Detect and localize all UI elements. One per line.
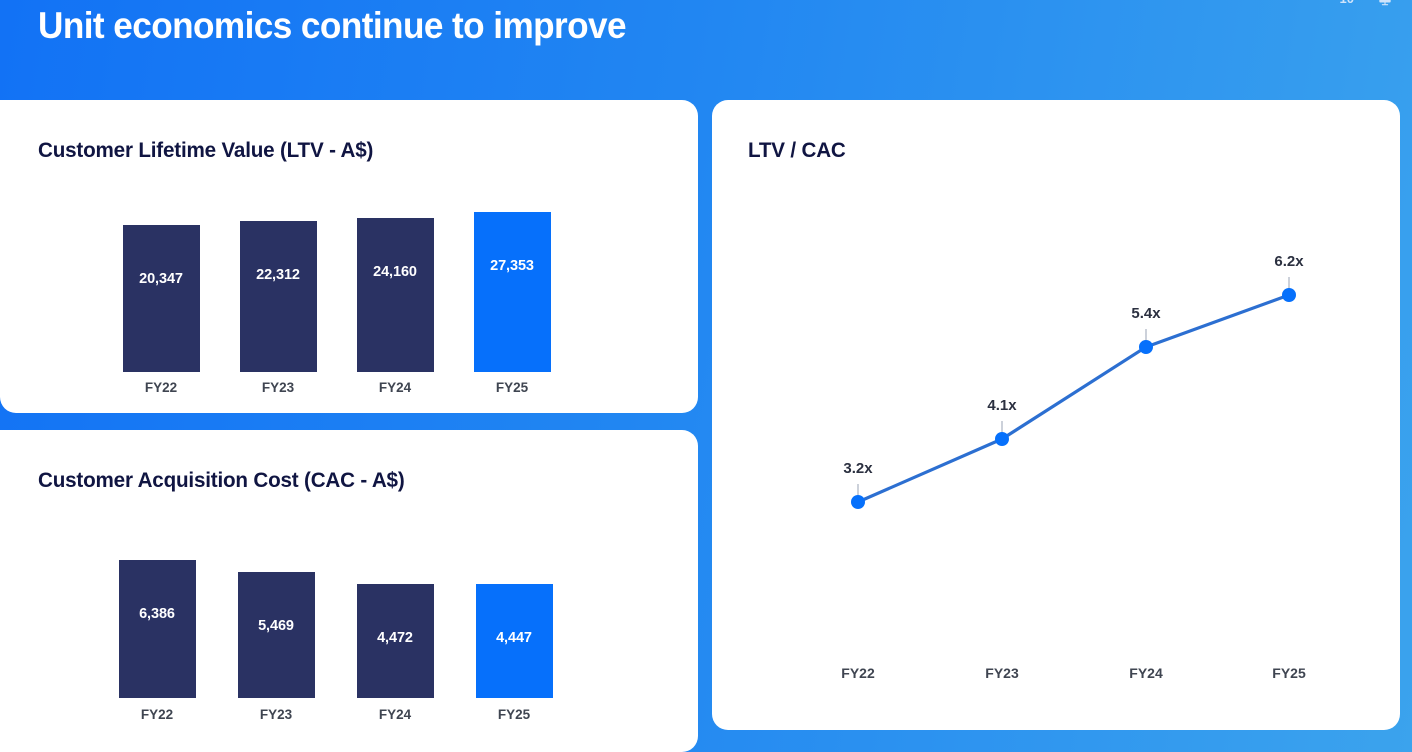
bar-chart-cac: 6,386FY225,469FY234,472FY244,447FY25 <box>0 430 698 752</box>
bar: 5,469 <box>238 572 315 699</box>
bar-value-label: 20,347 <box>123 271 200 287</box>
bar-value-label: 22,312 <box>240 267 317 283</box>
line-value-label: 5.4x <box>1131 305 1160 322</box>
presentation-icon[interactable] <box>1378 0 1392 6</box>
line-value-label: 4.1x <box>987 397 1016 414</box>
bar-category-label: FY22 <box>111 380 212 395</box>
line-category-label: FY24 <box>1129 665 1162 681</box>
line-value-label: 6.2x <box>1274 253 1303 270</box>
bar-category-label: FY23 <box>226 707 327 722</box>
bar-value-label: 24,160 <box>357 264 434 280</box>
bar-group: 27,353FY25 <box>474 212 551 372</box>
line-value-label: 3.2x <box>843 460 872 477</box>
data-point-marker <box>851 495 865 509</box>
bar-category-label: FY25 <box>464 707 565 722</box>
bar-category-label: FY24 <box>345 380 446 395</box>
card-ltv-cac: LTV / CAC 3.2xFY224.1xFY235.4xFY246.2xFY… <box>712 100 1400 730</box>
bar-group: 24,160FY24 <box>357 212 434 372</box>
line-series <box>858 295 1289 502</box>
slide-header: Unit economics continue to improve 10 <box>0 0 1412 96</box>
bar-value-label: 27,353 <box>474 258 551 274</box>
bar-category-label: FY23 <box>228 380 329 395</box>
bar: 4,472 <box>357 584 434 698</box>
bar: 20,347 <box>123 225 200 372</box>
bar: 27,353 <box>474 212 551 372</box>
bar: 22,312 <box>240 221 317 372</box>
data-point-marker <box>1282 288 1296 302</box>
bar-group: 20,347FY22 <box>123 212 200 372</box>
bar-group: 4,472FY24 <box>357 560 434 698</box>
line-category-label: FY25 <box>1272 665 1305 681</box>
line-chart-ltv-cac: 3.2xFY224.1xFY235.4xFY246.2xFY25 <box>712 100 1400 730</box>
bar-group: 4,447FY25 <box>476 560 553 698</box>
bar-value-label: 5,469 <box>238 618 315 634</box>
bar-group: 6,386FY22 <box>119 560 196 698</box>
card-ltv: Customer Lifetime Value (LTV - A$) 20,34… <box>0 100 698 413</box>
bar-category-label: FY22 <box>107 707 208 722</box>
bar-category-label: FY24 <box>345 707 446 722</box>
page-meta: 10 <box>1340 0 1392 6</box>
bar: 4,447 <box>476 584 553 698</box>
page-title: Unit economics continue to improve <box>38 5 626 47</box>
bar-value-label: 4,472 <box>357 630 434 646</box>
bar-group: 22,312FY23 <box>240 212 317 372</box>
data-point-marker <box>1139 340 1153 354</box>
bar: 24,160 <box>357 218 434 372</box>
data-point-marker <box>995 432 1009 446</box>
bar-group: 5,469FY23 <box>238 560 315 698</box>
bar-value-label: 4,447 <box>476 630 553 646</box>
line-category-label: FY22 <box>841 665 874 681</box>
card-cac: Customer Acquisition Cost (CAC - A$) 6,3… <box>0 430 698 752</box>
bar-category-label: FY25 <box>462 380 563 395</box>
bar-chart-ltv: 20,347FY2222,312FY2324,160FY2427,353FY25 <box>0 100 698 413</box>
line-category-label: FY23 <box>985 665 1018 681</box>
bar: 6,386 <box>119 560 196 698</box>
bar-value-label: 6,386 <box>119 606 196 622</box>
page-number: 10 <box>1340 0 1354 6</box>
line-chart-svg <box>712 100 1400 730</box>
